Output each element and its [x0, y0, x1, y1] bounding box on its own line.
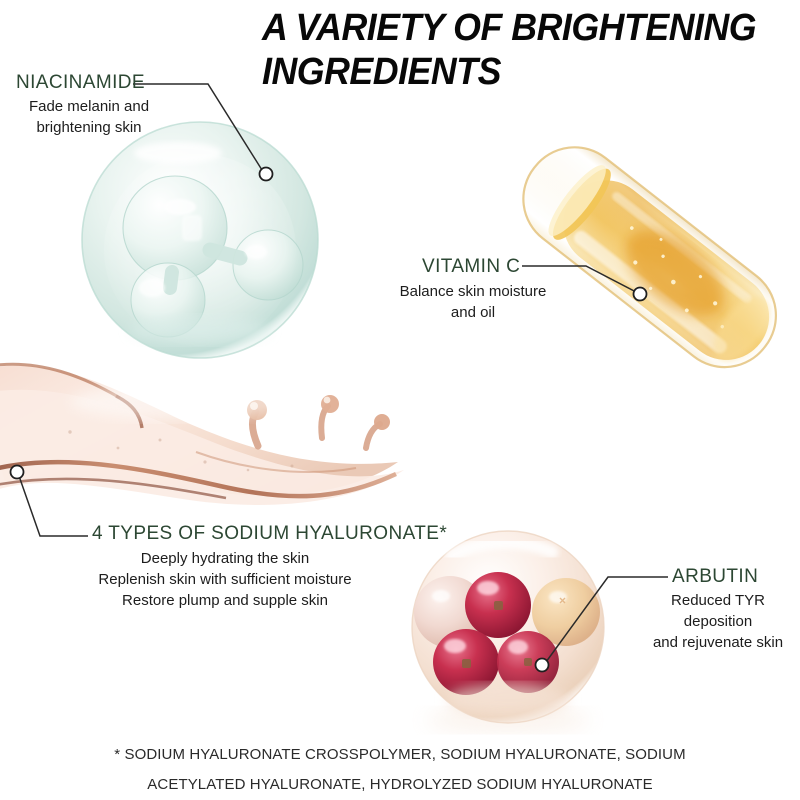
ingredient-description-niacinamide: Fade melanin and brightening skin [8, 96, 170, 138]
page-title-line1: A VARIETY OF BRIGHTENING [262, 6, 764, 50]
ingredient-description-sodium-hyaluronate: Deeply hydrating the skin Replenish skin… [60, 548, 390, 611]
ingredient-description-arbutin: Reduced TYR deposition and rejuvenate sk… [636, 590, 800, 653]
desc-line: Fade melanin and [8, 96, 170, 117]
ingredient-description-vitamin-c: Balance skin moisture and oil [394, 281, 552, 323]
footnote-line: ACETYLATED HYALURONATE, HYDROLYZED SODIU… [60, 770, 740, 800]
desc-line: and rejuvenate skin [636, 632, 800, 653]
desc-line: Deeply hydrating the skin [60, 548, 390, 569]
mint-molecule-bubble-image [82, 122, 318, 358]
desc-line: Replenish skin with sufficient moisture [60, 569, 390, 590]
desc-line: brightening skin [8, 117, 170, 138]
page-title-line2: INGREDIENTS [262, 50, 764, 94]
ingredient-heading-niacinamide: NIACINAMIDE [16, 72, 145, 94]
golden-test-tube-image [503, 127, 796, 387]
desc-line: Restore plump and supple skin [60, 590, 390, 611]
infographic-canvas: A VARIETY OF BRIGHTENING INGREDIENTS NIA… [0, 0, 800, 800]
footnote: * SODIUM HYALURONATE CROSSPOLYMER, SODIU… [60, 740, 740, 800]
ingredient-heading-arbutin: ARBUTIN [672, 566, 758, 588]
page-title: A VARIETY OF BRIGHTENING INGREDIENTS [262, 6, 764, 94]
desc-line: Reduced TYR deposition [636, 590, 800, 632]
footnote-line: * SODIUM HYALURONATE CROSSPOLYMER, SODIU… [60, 740, 740, 770]
desc-line: Balance skin moisture [394, 281, 552, 302]
ingredient-heading-sodium-hyaluronate: 4 TYPES OF SODIUM HYALURONATE* [92, 523, 447, 545]
peach-serum-splash-image [0, 364, 404, 505]
desc-line: and oil [394, 302, 552, 323]
pearl-berry-bubble-image [412, 531, 604, 732]
ingredient-heading-vitamin-c: VITAMIN C [422, 256, 520, 278]
